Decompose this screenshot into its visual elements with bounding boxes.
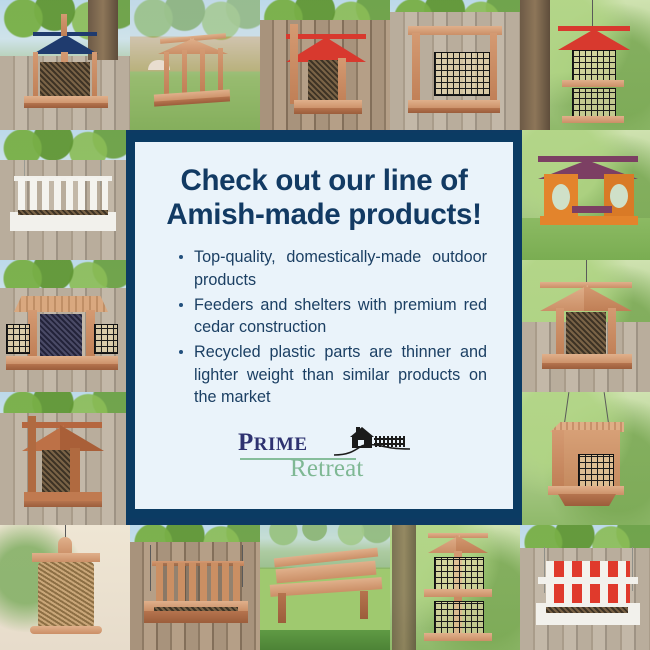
photo-cedar-swing-feeder bbox=[130, 525, 260, 650]
feeder-back-post bbox=[290, 24, 298, 104]
feeder-bottom-wedge bbox=[558, 494, 616, 506]
photo-open-pavilion-feeder bbox=[130, 0, 260, 130]
swing-back-slats bbox=[18, 178, 108, 212]
photo-orange-purple-roof-feeder bbox=[522, 130, 650, 260]
feeder-right-opening bbox=[610, 184, 628, 208]
feeder-left-post bbox=[412, 33, 420, 105]
feeder-suet-cage-upper bbox=[572, 50, 616, 82]
feeder-suet-cage-lower bbox=[434, 601, 484, 635]
brand-logo-area: PRIME Retreat bbox=[157, 427, 491, 499]
feeder-seed bbox=[40, 62, 90, 96]
feeder-right-post bbox=[490, 33, 497, 103]
feeder-suet-cage bbox=[578, 454, 614, 488]
swing-seed-tray bbox=[18, 210, 108, 215]
photo-red-roof-double-suet-feeder bbox=[520, 0, 650, 130]
feeder-back-post bbox=[28, 416, 36, 494]
photo-red-stain-hopper-feeder bbox=[0, 392, 126, 525]
feeder-tray-edge bbox=[6, 364, 118, 370]
feeder-post-3 bbox=[200, 49, 205, 92]
feeder-seed bbox=[42, 450, 70, 494]
feeder-bottom-tray bbox=[562, 116, 624, 123]
feeder-side-post bbox=[338, 58, 346, 104]
feeder-post-left bbox=[556, 308, 564, 356]
promo-card-inner: Check out our line of Amish-made product… bbox=[135, 142, 513, 509]
photo-red-white-swing-feeder bbox=[520, 525, 650, 650]
feeder-seed-cylinder bbox=[38, 562, 94, 628]
swing-front-rail bbox=[10, 222, 116, 231]
feeder-tray bbox=[548, 486, 624, 495]
swing-back-slats bbox=[156, 563, 240, 603]
photo-cedar-hopper-suet-feeder bbox=[0, 260, 126, 392]
hanger-chain-right bbox=[632, 547, 633, 591]
feeder-side-post bbox=[70, 448, 80, 496]
house-fence-icon bbox=[334, 425, 410, 459]
hanger-chain-left bbox=[544, 547, 545, 593]
feeder-seed-window bbox=[40, 314, 82, 358]
feeder-suet-cage-left bbox=[6, 324, 30, 354]
feeder-inner-trough bbox=[572, 206, 612, 213]
feeder-middle-tray bbox=[424, 589, 492, 597]
feeder-suet-cage bbox=[434, 52, 490, 96]
feeder-post-right bbox=[92, 52, 97, 98]
logo-wordmark-retreat: Retreat bbox=[290, 455, 364, 483]
feeder-top-board bbox=[408, 26, 502, 35]
feeder-post-top bbox=[61, 14, 67, 36]
feeder-post-left bbox=[33, 52, 38, 98]
feature-list: Top-quality, domestically-made outdoor p… bbox=[157, 246, 491, 411]
hanger-chain-left bbox=[150, 545, 151, 591]
photo-double-suet-tower-feeder bbox=[390, 525, 520, 650]
hanger-wire bbox=[592, 0, 593, 28]
photo-suet-cage-fence-feeder bbox=[390, 0, 520, 130]
feeder-seed bbox=[566, 312, 606, 356]
prime-retreat-logo: PRIME Retreat bbox=[238, 427, 410, 483]
headline-line-2: Amish-made products! bbox=[157, 198, 491, 232]
feeder-tray-edge bbox=[24, 501, 102, 507]
feeder-tray-edge bbox=[294, 108, 362, 114]
swing-front-rail bbox=[536, 613, 640, 625]
scene-tree-trunk bbox=[392, 525, 416, 650]
photo-red-roof-hopper-feeder bbox=[260, 0, 390, 130]
feeder-tray bbox=[540, 216, 638, 225]
swing-arm-rail bbox=[538, 577, 638, 584]
hanger-wire bbox=[586, 260, 587, 282]
feeder-left-opening bbox=[552, 184, 570, 210]
photo-cedar-peak-roof-feeder bbox=[522, 260, 650, 392]
photo-white-swing-feeder bbox=[0, 130, 126, 260]
promo-card: Check out our line of Amish-made product… bbox=[126, 133, 522, 518]
scene-shrub bbox=[260, 630, 390, 650]
feeder-middle-tray bbox=[562, 80, 624, 87]
photo-navy-roof-gazebo-feeder bbox=[0, 0, 130, 130]
bench-leg-left bbox=[278, 593, 286, 623]
feeder-post-right bbox=[608, 308, 616, 356]
swing-front-rail bbox=[144, 611, 248, 623]
feeder-bottom-tray bbox=[424, 633, 492, 641]
feeder-tray-edge bbox=[542, 363, 632, 369]
photo-seed-cylinder-feeder bbox=[0, 525, 130, 650]
feeder-base-tray bbox=[30, 626, 102, 634]
feeder-seed bbox=[308, 60, 338, 102]
list-item: Recycled plastic parts are thinner and l… bbox=[177, 341, 487, 409]
logo-prime-rest: RIME bbox=[254, 434, 308, 455]
bench-leg-right bbox=[360, 591, 368, 619]
feeder-post-4 bbox=[218, 48, 223, 90]
feeder-tray-edge bbox=[408, 108, 500, 113]
collage-flyer: Check out our line of Amish-made product… bbox=[0, 0, 650, 650]
list-item: Feeders and shelters with premium red ce… bbox=[177, 294, 487, 339]
feeder-post-1 bbox=[164, 52, 169, 96]
photo-hanging-suet-shelter-feeder bbox=[522, 392, 650, 525]
feeder-tray-edge bbox=[24, 103, 108, 108]
photo-cedar-picnic-bench bbox=[260, 525, 390, 650]
feeder-suet-cage-upper bbox=[434, 557, 484, 591]
headline-line-1: Check out our line of bbox=[180, 164, 467, 197]
page-title: Check out our line of Amish-made product… bbox=[157, 164, 491, 232]
list-item: Top-quality, domestically-made outdoor p… bbox=[177, 246, 487, 291]
logo-prime-initial: P bbox=[238, 429, 254, 456]
feeder-post-2 bbox=[182, 50, 187, 94]
feeder-suet-cage-right bbox=[94, 324, 118, 354]
hanger-chain-right bbox=[242, 545, 243, 587]
feeder-suet-cage-lower bbox=[572, 88, 616, 118]
logo-wordmark-prime: PRIME bbox=[238, 429, 308, 457]
scene-tree-trunk bbox=[520, 0, 550, 130]
feeder-back-wall bbox=[552, 430, 564, 488]
feeder-top-plate bbox=[32, 553, 100, 562]
